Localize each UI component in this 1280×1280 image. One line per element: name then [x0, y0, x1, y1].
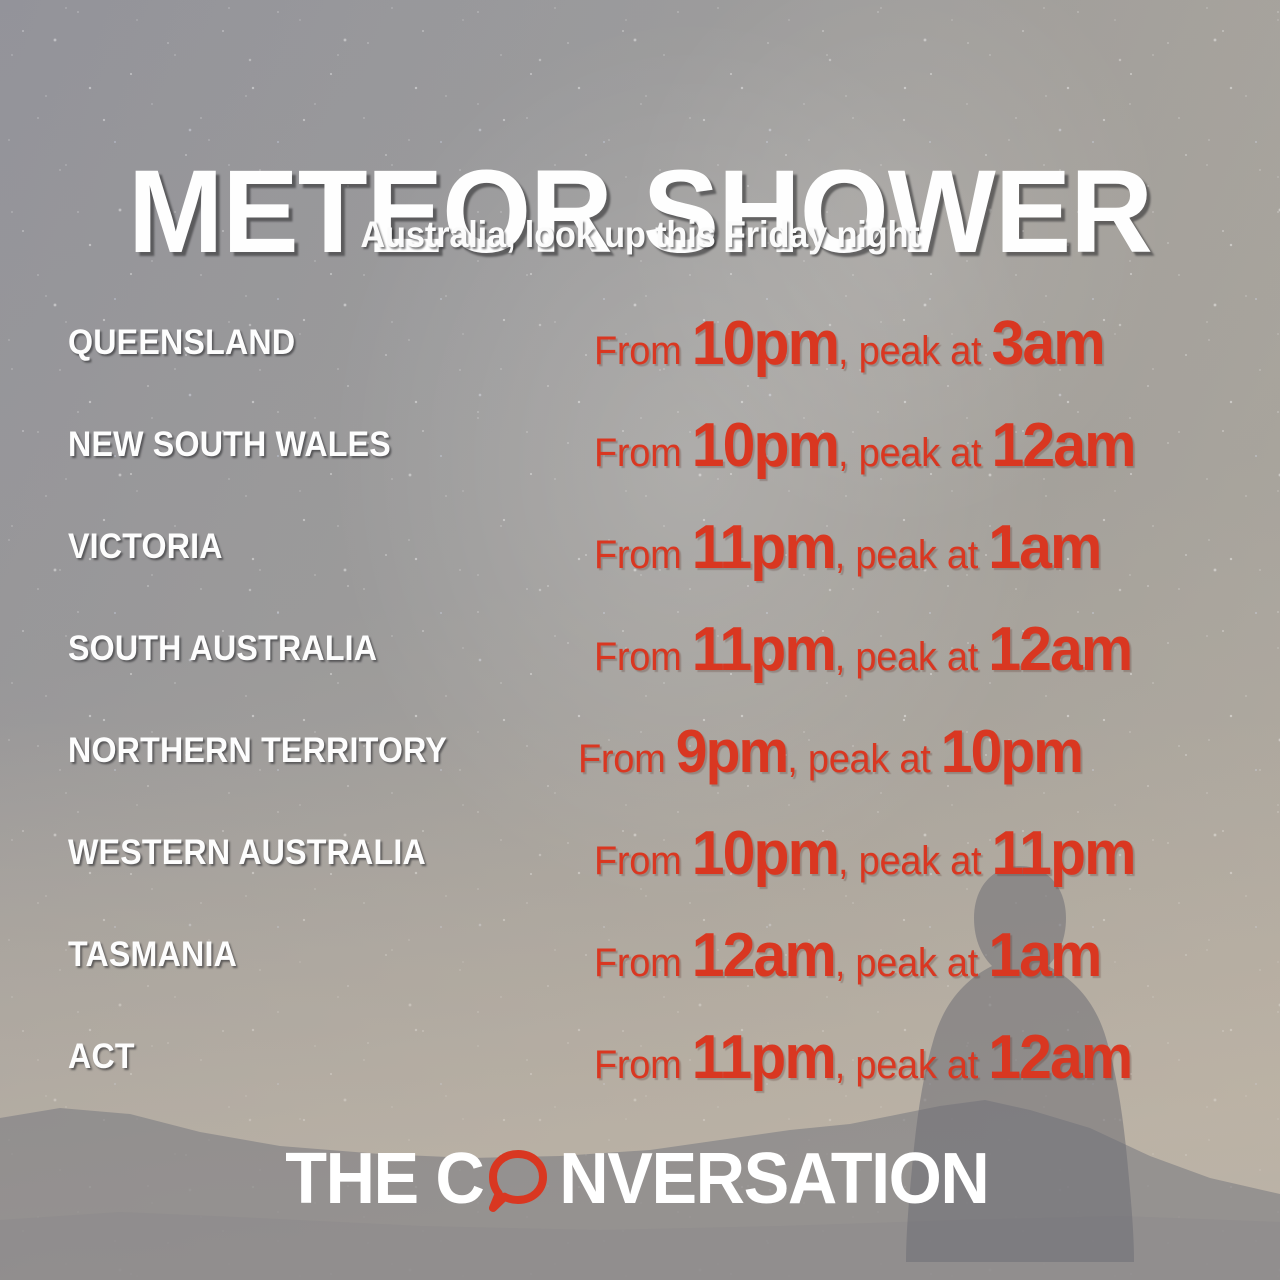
- peak-label: , peak at: [835, 1043, 988, 1087]
- page-subtitle: Australia, look up this Friday night: [45, 214, 1235, 256]
- state-label: VICTORIA: [68, 527, 223, 567]
- peak-time: 1am: [988, 921, 1100, 990]
- peak-label: , peak at: [838, 839, 991, 883]
- from-label: From: [594, 839, 692, 883]
- state-label: SOUTH AUSTRALIA: [68, 629, 377, 669]
- from-label: From: [594, 533, 692, 577]
- start-time: 10pm: [692, 411, 838, 480]
- peak-time: 10pm: [941, 718, 1082, 785]
- state-label: NORTHERN TERRITORY: [68, 731, 447, 771]
- start-time: 11pm: [692, 615, 835, 684]
- table-row: TASMANIA From 12am, peak at 1am: [0, 904, 1280, 1006]
- state-times: From 12am, peak at 1am: [594, 920, 1101, 991]
- state-label: ACT: [68, 1037, 135, 1077]
- state-times: From 11pm, peak at 12am: [594, 1022, 1131, 1093]
- the-conversation-logo[interactable]: THE C NVERSATION: [0, 1143, 1280, 1215]
- logo-text-part1: THE C: [285, 1143, 483, 1215]
- peak-time: 3am: [992, 309, 1104, 378]
- peak-label: , peak at: [835, 533, 988, 577]
- peak-time: 11pm: [992, 819, 1135, 888]
- table-row: WESTERN AUSTRALIA From 10pm, peak at 11p…: [0, 802, 1280, 904]
- peak-label: , peak at: [835, 635, 988, 679]
- peak-label: , peak at: [838, 431, 991, 475]
- peak-label: , peak at: [787, 737, 940, 781]
- state-times: From 9pm, peak at 10pm: [578, 717, 1082, 786]
- peak-time: 12am: [992, 411, 1135, 480]
- table-row: VICTORIA From 11pm, peak at 1am: [0, 496, 1280, 598]
- speech-bubble-o-icon: [489, 1150, 547, 1212]
- state-label: WESTERN AUSTRALIA: [68, 833, 426, 873]
- state-times: From 11pm, peak at 1am: [594, 512, 1100, 583]
- from-label: From: [594, 329, 692, 373]
- state-times: From 10pm, peak at 3am: [594, 308, 1104, 379]
- table-row: SOUTH AUSTRALIA From 11pm, peak at 12am: [0, 598, 1280, 700]
- from-label: From: [594, 1043, 692, 1087]
- start-time: 10pm: [692, 819, 838, 888]
- start-time: 11pm: [692, 1023, 835, 1092]
- state-times: From 11pm, peak at 12am: [594, 614, 1131, 685]
- from-label: From: [594, 431, 692, 475]
- table-row: ACT From 11pm, peak at 12am: [0, 1006, 1280, 1108]
- peak-time: 12am: [988, 615, 1131, 684]
- state-times: From 10pm, peak at 11pm: [594, 818, 1135, 889]
- state-times: From 10pm, peak at 12am: [594, 410, 1135, 481]
- table-row: NEW SOUTH WALES From 10pm, peak at 12am: [0, 394, 1280, 496]
- state-label: TASMANIA: [68, 935, 237, 975]
- peak-label: , peak at: [835, 941, 988, 985]
- start-time: 12am: [692, 921, 835, 990]
- state-label: NEW SOUTH WALES: [68, 425, 391, 465]
- start-time: 9pm: [676, 718, 788, 785]
- table-row: QUEENSLAND From 10pm, peak at 3am: [0, 292, 1280, 394]
- from-label: From: [594, 635, 692, 679]
- meteor-shower-infographic: METEOR SHOWER Australia, look up this Fr…: [0, 0, 1280, 1280]
- peak-label: , peak at: [838, 329, 991, 373]
- peak-time: 12am: [988, 1023, 1131, 1092]
- state-times-list: QUEENSLAND From 10pm, peak at 3am NEW SO…: [0, 292, 1280, 1108]
- table-row: NORTHERN TERRITORY From 9pm, peak at 10p…: [0, 700, 1280, 802]
- from-label: From: [594, 941, 692, 985]
- state-label: QUEENSLAND: [68, 323, 295, 363]
- from-label: From: [578, 737, 676, 781]
- logo-text-part2: NVERSATION: [560, 1143, 989, 1215]
- start-time: 10pm: [692, 309, 838, 378]
- start-time: 11pm: [692, 513, 835, 582]
- peak-time: 1am: [988, 513, 1100, 582]
